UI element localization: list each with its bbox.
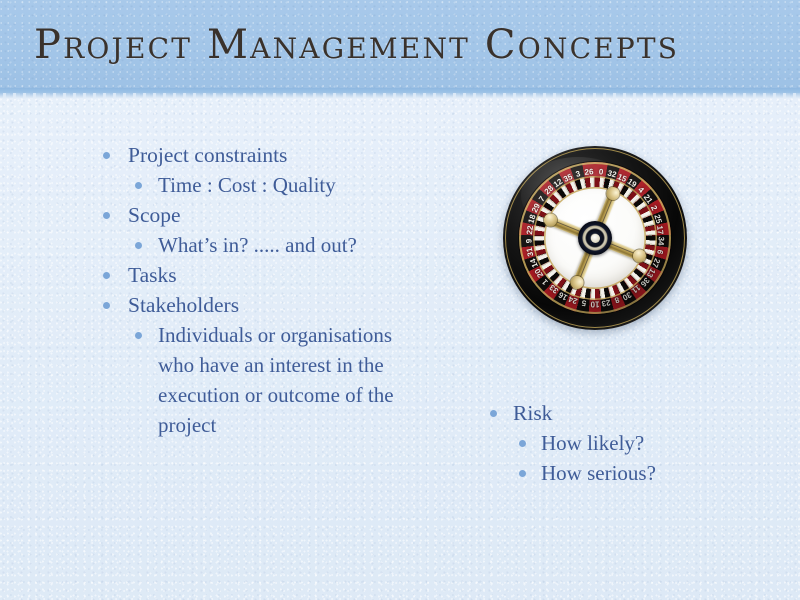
list-item-label: What’s in? ..... and out? [158, 230, 399, 260]
slide-header-edge [0, 88, 800, 98]
list-item-label: Scope [128, 200, 399, 230]
list-item: Project constraints [99, 140, 399, 170]
bullet-dot-icon [135, 332, 142, 339]
list-item: Tasks [99, 260, 399, 290]
bullet-dot-icon [135, 242, 142, 249]
wheel-inner-bowl [544, 187, 646, 289]
wheel-outer-rim: 0321519421225173462713361130823105241633… [503, 146, 687, 330]
list-item: What’s in? ..... and out? [99, 230, 399, 260]
list-item-label: Risk [513, 398, 768, 428]
slide-canvas: Project Management Concepts Project cons… [0, 0, 800, 600]
list-item-label: Stakeholders [128, 290, 399, 320]
bullet-dot-icon [103, 272, 110, 279]
bullet-dot-icon [135, 182, 142, 189]
list-item: How serious? [488, 458, 768, 488]
list-item-label: How likely? [541, 428, 768, 458]
bullet-dot-icon [103, 212, 110, 219]
list-item: Stakeholders [99, 290, 399, 320]
bullet-dot-icon [103, 152, 110, 159]
list-item-label: Project constraints [128, 140, 399, 170]
right-bullet-list: Risk How likely? How serious? [488, 398, 768, 488]
list-item: Scope [99, 200, 399, 230]
roulette-wheel-image: 0321519421225173462713361130823105241633… [503, 146, 687, 330]
list-item: Time : Cost : Quality [99, 170, 399, 200]
list-item: Individuals or organisations who have an… [99, 320, 399, 440]
list-item-label: Tasks [128, 260, 399, 290]
list-item-label: Individuals or organisations who have an… [158, 320, 399, 440]
bullet-dot-icon [490, 410, 497, 417]
left-bullet-list: Project constraints Time : Cost : Qualit… [99, 140, 399, 440]
bullet-dot-icon [103, 302, 110, 309]
list-item: Risk [488, 398, 768, 428]
list-item: How likely? [488, 428, 768, 458]
wheel-center-hub [578, 221, 612, 255]
list-item-label: Time : Cost : Quality [158, 170, 399, 200]
list-item-label: How serious? [541, 458, 768, 488]
page-title: Project Management Concepts [34, 19, 774, 71]
bullet-dot-icon [519, 440, 526, 447]
bullet-dot-icon [519, 470, 526, 477]
